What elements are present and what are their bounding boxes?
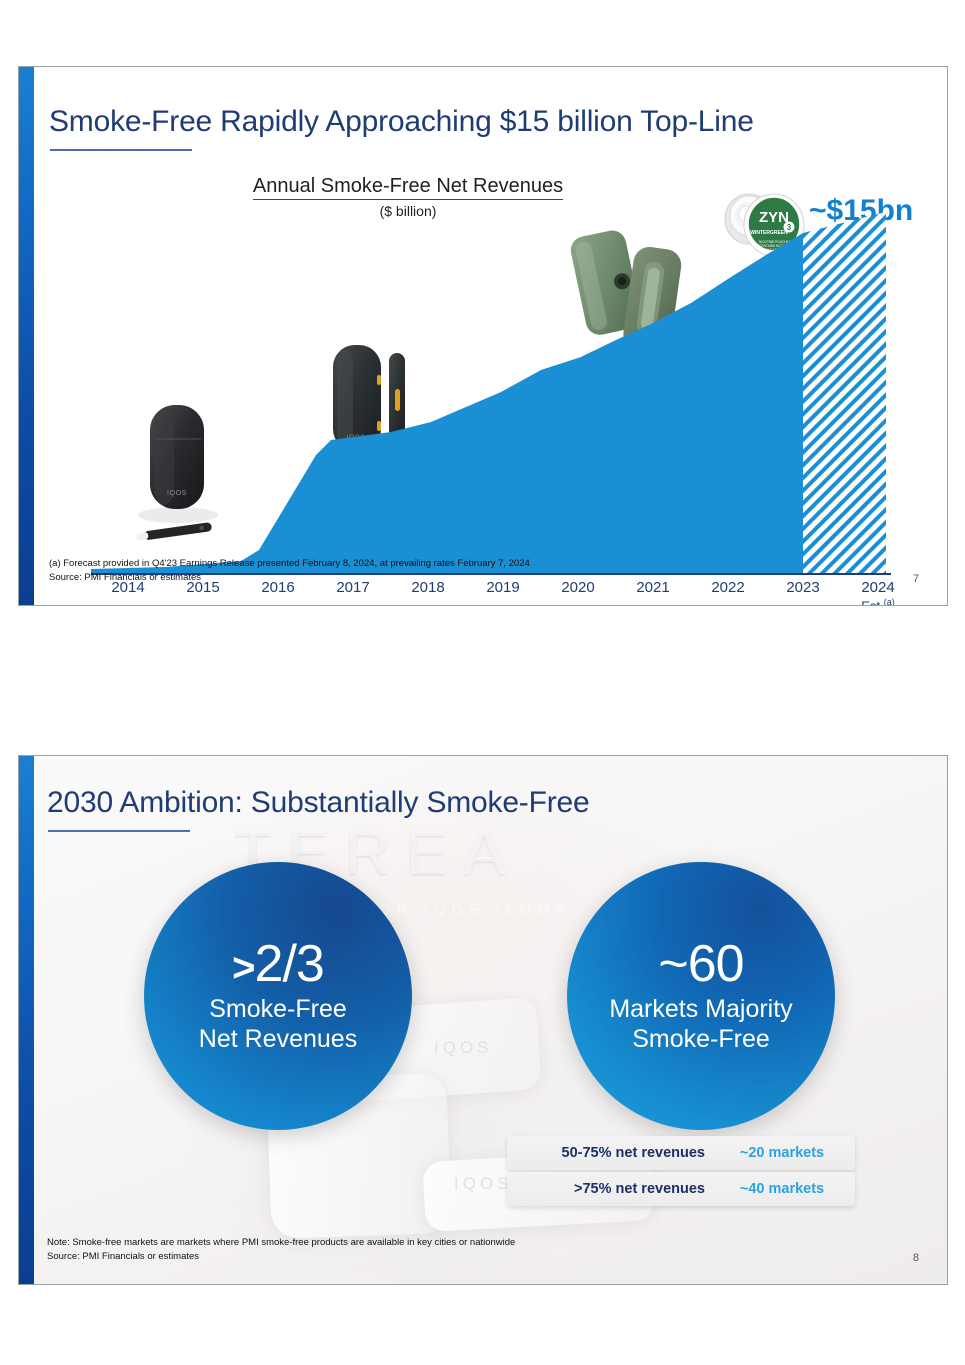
stat-circle-net-revenues: >2/3 Smoke-Free Net Revenues: [144, 862, 412, 1130]
slide-2030-ambition: TEREA FOR IQOS ILUMA IQOS IQOS 2030 Ambi…: [18, 755, 948, 1285]
stat-value-right: ~60: [658, 938, 743, 990]
stat-label-right-line1: Markets Majority: [609, 994, 792, 1024]
stat-prefix-left: >: [232, 946, 254, 990]
footnote-line-a: (a) Forecast provided in Q4'23 Earnings …: [49, 557, 530, 571]
chart-container: Annual Smoke-Free Net Revenues ($ billio…: [19, 67, 947, 605]
axis-tick-2024-est: Est.(a): [841, 597, 915, 606]
footnote-line-note: Note: Smoke-free markets are markets whe…: [47, 1236, 515, 1250]
background-device-label-1: IQOS: [434, 1038, 493, 1058]
axis-tick-2022: 2022: [691, 579, 765, 596]
slide-footnote: Note: Smoke-free markets are markets whe…: [47, 1236, 515, 1264]
axis-tick-2024-year: 2024: [861, 579, 894, 596]
slide-footnote: (a) Forecast provided in Q4'23 Earnings …: [49, 557, 530, 585]
stat-number-left: 2/3: [255, 935, 324, 993]
legend-label-50-75: 50-75% net revenues: [521, 1145, 723, 1161]
legend-label-over-75: >75% net revenues: [521, 1181, 723, 1197]
axis-tick-2023: 2023: [766, 579, 840, 596]
page-number: 8: [913, 1252, 919, 1264]
area-series-forecast: [803, 212, 886, 574]
presentation-page: Smoke-Free Rapidly Approaching $15 billi…: [0, 0, 965, 1365]
page-number: 7: [913, 573, 919, 585]
stat-number-right: ~60: [658, 935, 743, 993]
slide-smoke-free-revenue: Smoke-Free Rapidly Approaching $15 billi…: [18, 66, 948, 606]
stat-circle-markets: ~60 Markets Majority Smoke-Free: [567, 862, 835, 1130]
legend-value-40-markets: ~40 markets: [723, 1181, 841, 1197]
page-title: 2030 Ambition: Substantially Smoke-Free: [47, 786, 589, 820]
legend-value-20-markets: ~20 markets: [723, 1145, 841, 1161]
legend-row-50-75: 50-75% net revenues ~20 markets: [507, 1136, 855, 1170]
axis-tick-2024: 2024 Est.(a): [841, 579, 915, 606]
axis-tick-2020: 2020: [541, 579, 615, 596]
stat-label-left-line2: Net Revenues: [199, 1024, 357, 1054]
footnote-line-source: Source: PMI Financials or estimates: [47, 1250, 515, 1264]
area-chart-plot: [91, 207, 891, 577]
area-series-actual: [91, 233, 803, 574]
footnote-line-source: Source: PMI Financials or estimates: [49, 571, 530, 585]
stat-label-left-line1: Smoke-Free: [209, 994, 347, 1024]
stat-value-left: >2/3: [232, 938, 324, 990]
slide-accent-bar: [19, 756, 34, 1284]
title-underline: [48, 830, 190, 832]
axis-tick-2021: 2021: [616, 579, 690, 596]
background-watermark-subtitle: FOR IQOS ILUMA: [364, 901, 571, 918]
legend-row-over-75: >75% net revenues ~40 markets: [507, 1172, 855, 1206]
chart-title: Annual Smoke-Free Net Revenues: [253, 175, 563, 200]
background-device-label-2: IQOS: [454, 1174, 513, 1194]
stat-label-right-line2: Smoke-Free: [632, 1024, 770, 1054]
